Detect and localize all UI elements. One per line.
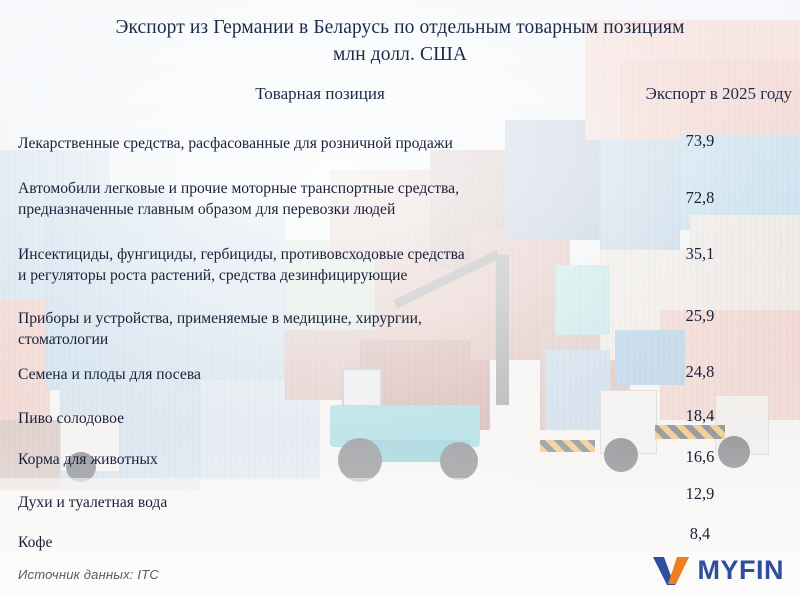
table-row: Пиво солодовое 18,4 — [0, 400, 800, 442]
page-title: Экспорт из Германии в Беларусь по отдель… — [0, 14, 800, 68]
page-title-line2: млн долл. США — [0, 41, 800, 68]
row-value: 35,1 — [660, 244, 740, 264]
page-title-line1: Экспорт из Германии в Беларусь по отдель… — [0, 14, 800, 41]
table-row: Инсектициды, фунгициды, гербициды, проти… — [0, 238, 800, 302]
row-value: 72,8 — [660, 188, 740, 208]
myfin-logo-text: MYFIN — [698, 555, 785, 586]
column-header-value: Экспорт в 2025 году — [646, 84, 792, 104]
row-value: 8,4 — [660, 524, 740, 544]
infographic-slide: Экспорт из Германии в Беларусь по отдель… — [0, 0, 800, 598]
column-header-item: Товарная позиция — [120, 84, 520, 104]
row-label: Духи и туалетная вода — [18, 492, 618, 513]
row-label: Лекарственные средства, расфасованные дл… — [18, 133, 618, 154]
table-row: Приборы и устройства, применяемые в меди… — [0, 302, 800, 356]
myfin-chevron-icon — [651, 554, 691, 586]
row-value: 12,9 — [660, 484, 740, 504]
table-row: Корма для животных 16,6 — [0, 442, 800, 482]
table-row: Духи и туалетная вода 12,9 — [0, 482, 800, 522]
row-value: 16,6 — [660, 447, 740, 467]
table-row: Лекарственные средства, расфасованные дл… — [0, 126, 800, 174]
row-label: Инсектициды, фунгициды, гербициды, проти… — [18, 244, 618, 286]
data-table: Лекарственные средства, расфасованные дл… — [0, 126, 800, 562]
row-label: Пиво солодовое — [18, 408, 618, 429]
table-row: Семена и плоды для посева 24,8 — [0, 356, 800, 400]
row-label: Корма для животных — [18, 449, 618, 470]
row-value: 24,8 — [660, 362, 740, 382]
myfin-logo[interactable]: MYFIN — [651, 554, 785, 586]
source-note: Источник данных: ITC — [18, 567, 159, 582]
row-value: 73,9 — [660, 131, 740, 151]
row-label: Автомобили легковые и прочие моторные тр… — [18, 178, 618, 220]
row-value: 18,4 — [660, 406, 740, 426]
row-label: Кофе — [18, 532, 618, 553]
row-label: Приборы и устройства, применяемые в меди… — [18, 308, 618, 350]
row-value: 25,9 — [660, 306, 740, 326]
table-row: Автомобили легковые и прочие моторные тр… — [0, 174, 800, 238]
row-label: Семена и плоды для посева — [18, 364, 618, 385]
